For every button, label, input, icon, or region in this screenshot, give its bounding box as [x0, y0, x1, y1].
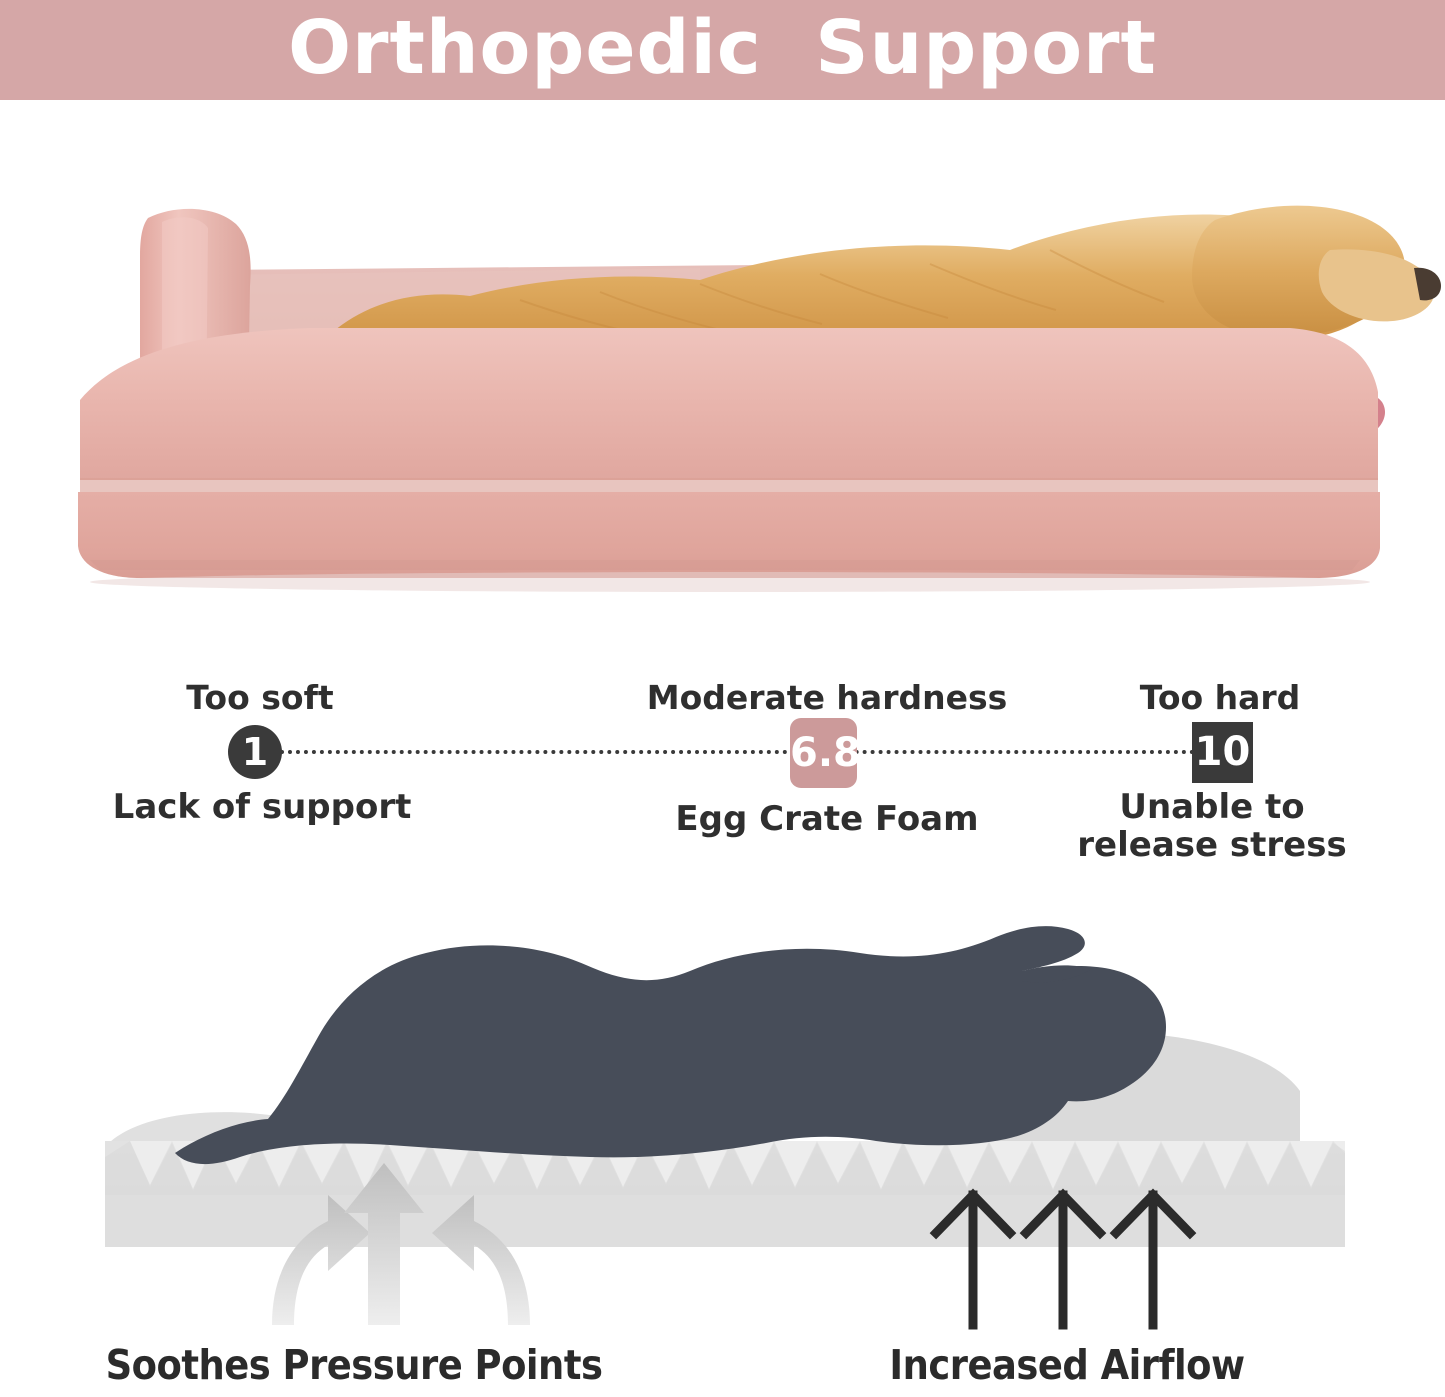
scale-right-bottom-line1: Unable to: [1077, 788, 1346, 826]
scale-left-bottom-label: Lack of support: [113, 788, 412, 826]
foam-diagram: [0, 895, 1445, 1335]
airflow-arrows: [936, 1195, 1190, 1325]
bed-base: [78, 492, 1380, 578]
foam-diagram-illustration: [0, 895, 1445, 1335]
scale-right-badge: 10: [1192, 722, 1253, 783]
scale-middle-bottom-label: Egg Crate Foam: [675, 800, 978, 838]
scale-left-badge: 1: [228, 725, 282, 779]
infographic-page: Orthopedic Support: [0, 0, 1445, 1397]
scale-left-top-label: Too soft: [186, 678, 333, 717]
product-photo-illustration: [0, 100, 1445, 640]
product-photo: [0, 100, 1445, 640]
scale-right-top-label: Too hard: [1140, 678, 1301, 717]
scale-right-bottom-label: Unable to release stress: [1077, 788, 1346, 864]
bed-front-wall: [80, 328, 1378, 492]
hardness-scale: Too soft 1 Lack of support Moderate hard…: [0, 660, 1445, 890]
scale-right-bottom-line2: release stress: [1077, 826, 1346, 864]
scale-middle-badge: 6.8: [790, 718, 857, 788]
scale-dotted-line: [280, 750, 1195, 754]
scale-middle-top-label: Moderate hardness: [647, 678, 1008, 717]
page-title: Orthopedic Support: [0, 0, 1445, 100]
header-banner: Orthopedic Support: [0, 0, 1445, 100]
caption-increased-airflow: Increased Airflow: [889, 1341, 1244, 1389]
bed-shadow: [90, 572, 1370, 592]
caption-soothes-pressure-points: Soothes Pressure Points: [106, 1341, 603, 1389]
dog-silhouette: [175, 926, 1166, 1164]
